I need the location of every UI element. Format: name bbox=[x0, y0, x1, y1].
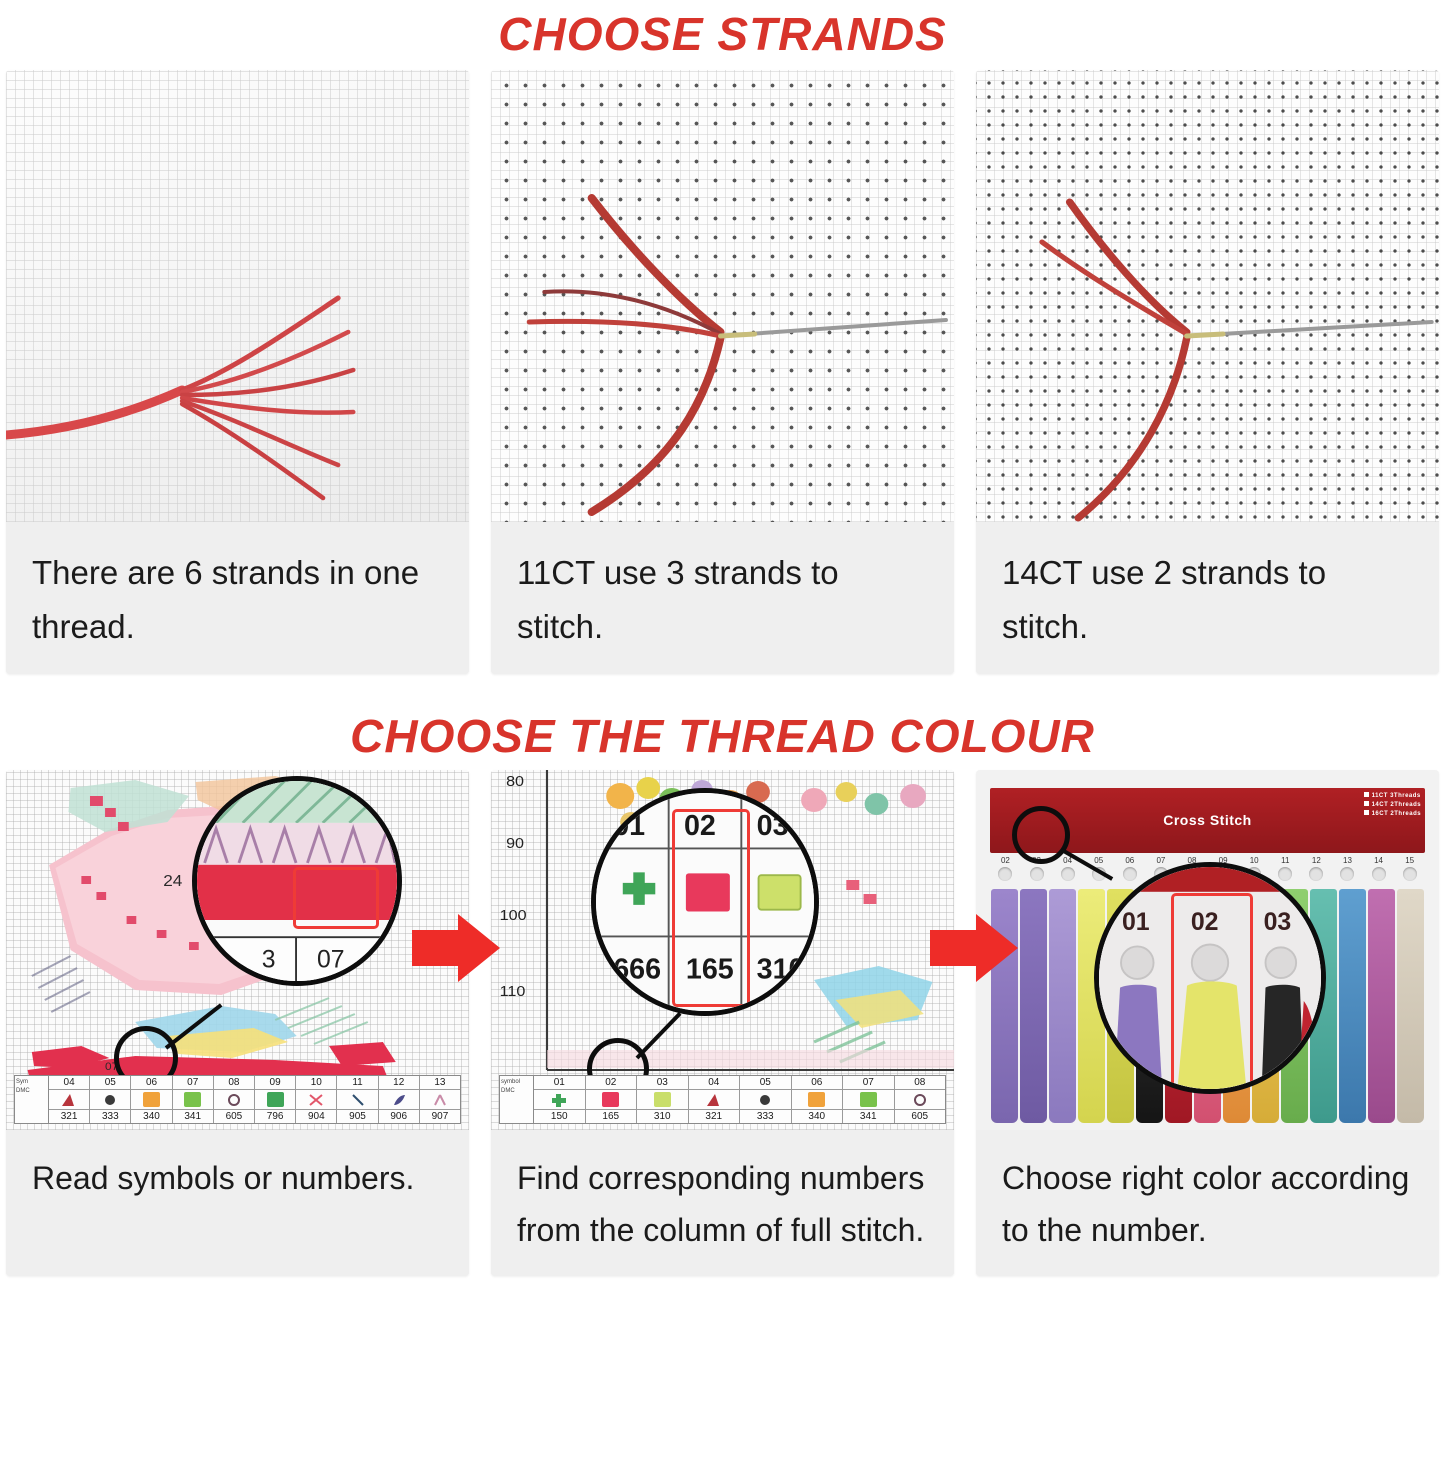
chart-cell-number: 24 bbox=[163, 872, 182, 890]
section-title-choose-thread-colour: CHOOSE THE THREAD COLOUR bbox=[0, 700, 1445, 764]
row-label: 80 bbox=[506, 773, 524, 789]
magnified-code: 666 bbox=[613, 953, 661, 985]
photo-thread-card: Cross Stitch 11CT 3Threads 14CT 2Threads… bbox=[976, 770, 1439, 1130]
magnified-symbol-green-plus bbox=[623, 872, 656, 905]
legend-column: 03310 bbox=[637, 1076, 689, 1123]
three-strands-needle-illustration bbox=[491, 70, 954, 522]
legend-code: 605 bbox=[214, 1110, 254, 1123]
card-choose-color: Cross Stitch 11CT 3Threads 14CT 2Threads… bbox=[976, 770, 1439, 1276]
legend-symbol bbox=[337, 1090, 377, 1110]
magnified-thread-number: 01 bbox=[1122, 908, 1150, 936]
caption-read-symbols: Read symbols or numbers. bbox=[6, 1130, 469, 1276]
legend-number: 10 bbox=[296, 1076, 336, 1090]
thread-skein bbox=[1368, 889, 1395, 1123]
highlight-box-magnified-threads bbox=[1171, 893, 1253, 1093]
row-label: 110 bbox=[500, 983, 526, 999]
legend-head-symbol: symbol bbox=[501, 1078, 532, 1087]
hole-icon bbox=[1403, 867, 1417, 881]
legend-symbol bbox=[895, 1090, 946, 1110]
card-11ct-three-strands: 11CT use 3 strands to stitch. bbox=[491, 70, 954, 674]
step-arrow-icon-2 bbox=[930, 912, 1018, 984]
legend-symbol bbox=[534, 1090, 585, 1110]
legend-code: 150 bbox=[534, 1110, 585, 1123]
legend-code: 340 bbox=[792, 1110, 843, 1123]
thread-card-options: 11CT 3Threads 14CT 2Threads 16CT 2Thread… bbox=[1364, 792, 1422, 819]
legend-column: 04321 bbox=[49, 1076, 90, 1123]
hole-icon bbox=[1372, 867, 1386, 881]
legend-code: 333 bbox=[90, 1110, 130, 1123]
checkbox-icon bbox=[1364, 792, 1369, 797]
legend-number: 02 bbox=[586, 1076, 637, 1090]
legend-column: 08605 bbox=[895, 1076, 946, 1123]
thread-skein bbox=[1020, 889, 1047, 1123]
card-read-symbols: 24 07 bbox=[6, 770, 469, 1276]
caption-14ct-two-strands: 14CT use 2 strands to stitch. bbox=[976, 522, 1439, 674]
legend-number: 03 bbox=[637, 1076, 688, 1090]
legend-symbol bbox=[90, 1090, 130, 1110]
legend-number: 06 bbox=[131, 1076, 171, 1090]
thread-card-banner-title: Cross Stitch bbox=[1163, 812, 1251, 828]
legend-code: 321 bbox=[689, 1110, 740, 1123]
section-title-choose-strands: CHOOSE STRANDS bbox=[0, 0, 1445, 62]
card-14ct-two-strands: 14CT use 2 strands to stitch. bbox=[976, 70, 1439, 674]
legend-number: 12 bbox=[379, 1076, 419, 1090]
legend-symbol bbox=[296, 1090, 336, 1110]
legend-number: 09 bbox=[255, 1076, 295, 1090]
legend-symbol bbox=[637, 1090, 688, 1110]
magnified-code: 310 bbox=[757, 953, 805, 985]
option-item: 16CT 2Threads bbox=[1364, 810, 1422, 819]
highlight-box-magnified bbox=[293, 867, 379, 929]
magnified-column-number: 03 bbox=[757, 810, 789, 842]
row-label: 90 bbox=[506, 835, 524, 851]
legend-symbol bbox=[689, 1090, 740, 1110]
caption-find-numbers: Find corresponding numbers from the colu… bbox=[491, 1130, 954, 1276]
legend-symbol bbox=[131, 1090, 171, 1110]
chart-background: 24 07 bbox=[6, 770, 469, 1130]
legend-column: 11905 bbox=[337, 1076, 378, 1123]
card-six-strands: There are 6 strands in one thread. bbox=[6, 70, 469, 674]
legend-symbol bbox=[214, 1090, 254, 1110]
thread-card-background: Cross Stitch 11CT 3Threads 14CT 2Threads… bbox=[976, 770, 1439, 1130]
chart-background-middle: 80 90 100 110 bbox=[491, 770, 954, 1130]
legend-code: 904 bbox=[296, 1110, 336, 1123]
hole-icon bbox=[1030, 867, 1044, 881]
legend-number: 05 bbox=[90, 1076, 130, 1090]
legend-column: 12906 bbox=[379, 1076, 420, 1123]
magnifier-target-circle-threads bbox=[1012, 806, 1070, 864]
legend-code: 340 bbox=[131, 1110, 171, 1123]
legend-number: 04 bbox=[49, 1076, 89, 1090]
photo-pattern-chart: 24 07 bbox=[6, 770, 469, 1130]
legend-number: 08 bbox=[895, 1076, 946, 1090]
legend-column: 01150 bbox=[534, 1076, 586, 1123]
legend-symbol bbox=[792, 1090, 843, 1110]
legend-column: 05333 bbox=[740, 1076, 792, 1123]
magnified-number-right: 07 bbox=[317, 947, 345, 974]
hole-icon bbox=[1340, 867, 1354, 881]
legend-column: 07341 bbox=[843, 1076, 895, 1123]
row-label: 100 bbox=[500, 907, 527, 923]
legend-column: 04321 bbox=[689, 1076, 741, 1123]
option-item: 11CT 3Threads bbox=[1364, 792, 1422, 801]
legend-code: 907 bbox=[420, 1110, 460, 1123]
legend-symbol bbox=[49, 1090, 89, 1110]
legend-column: 10904 bbox=[296, 1076, 337, 1123]
legend-number: 13 bbox=[420, 1076, 460, 1090]
photo-pattern-legend: 80 90 100 110 bbox=[491, 770, 954, 1130]
legend-code: 341 bbox=[173, 1110, 213, 1123]
legend-column: 06340 bbox=[792, 1076, 844, 1123]
magnified-symbol-green-block bbox=[759, 875, 801, 909]
legend-number: 05 bbox=[740, 1076, 791, 1090]
legend-code: 906 bbox=[379, 1110, 419, 1123]
legend-symbol bbox=[255, 1090, 295, 1110]
hole-icon bbox=[998, 867, 1012, 881]
thread-hole: 14 bbox=[1363, 856, 1394, 892]
legend-table-symbols: SymDMC 04321 05333 06340 07341 08605 097… bbox=[14, 1075, 461, 1124]
legend-column: 06340 bbox=[131, 1076, 172, 1123]
hole-icon bbox=[1061, 867, 1075, 881]
card-find-numbers: 80 90 100 110 bbox=[491, 770, 954, 1276]
legend-code: 605 bbox=[895, 1110, 946, 1123]
legend-symbol bbox=[586, 1090, 637, 1110]
thread-hole: 02 bbox=[990, 856, 1021, 892]
legend-code: 310 bbox=[637, 1110, 688, 1123]
legend-column: 09796 bbox=[255, 1076, 296, 1123]
legend-symbol bbox=[173, 1090, 213, 1110]
caption-choose-color: Choose right color according to the numb… bbox=[976, 1130, 1439, 1276]
thread-hole: 15 bbox=[1394, 856, 1425, 892]
legend-table-dmc: symbol DMC 01150 02165 03310 04321 05333… bbox=[499, 1075, 946, 1124]
magnifier-bubble-symbols: 3 07 bbox=[192, 776, 402, 986]
legend-symbol bbox=[379, 1090, 419, 1110]
two-strands-needle-illustration bbox=[976, 70, 1439, 522]
colour-card-row: 24 07 bbox=[0, 770, 1445, 1276]
step-arrow-icon-1 bbox=[412, 912, 500, 984]
legend-row-header: SymDMC bbox=[15, 1076, 49, 1123]
thread-skein bbox=[1339, 889, 1366, 1123]
magnifier-bubble-threads: 01 02 03 bbox=[1094, 862, 1326, 1094]
checkbox-icon bbox=[1364, 801, 1369, 806]
legend-code: 905 bbox=[337, 1110, 377, 1123]
magnifier-bubble-legend: 01 02 03 666 165 310 bbox=[591, 788, 819, 1016]
legend-code: 341 bbox=[843, 1110, 894, 1123]
legend-column: 07341 bbox=[173, 1076, 214, 1123]
checkbox-icon bbox=[1364, 810, 1369, 815]
magnified-number-left: 3 bbox=[262, 947, 276, 974]
thread-skein bbox=[1397, 889, 1424, 1123]
legend-row-header-middle: symbol DMC bbox=[500, 1076, 534, 1123]
thread-hole: 13 bbox=[1332, 856, 1363, 892]
legend-column: 08605 bbox=[214, 1076, 255, 1123]
legend-columns: 04321 05333 06340 07341 08605 09796 1090… bbox=[49, 1076, 460, 1123]
legend-number: 04 bbox=[689, 1076, 740, 1090]
legend-column: 02165 bbox=[586, 1076, 638, 1123]
legend-number: 08 bbox=[214, 1076, 254, 1090]
strands-card-row: There are 6 strands in one thread. bbox=[0, 70, 1445, 674]
legend-number: 07 bbox=[843, 1076, 894, 1090]
legend-column: 05333 bbox=[90, 1076, 131, 1123]
thread-skein bbox=[1049, 889, 1076, 1123]
magnified-thread-number: 03 bbox=[1264, 908, 1292, 936]
legend-symbol bbox=[420, 1090, 460, 1110]
legend-number: 06 bbox=[792, 1076, 843, 1090]
legend-symbol bbox=[843, 1090, 894, 1110]
legend-number: 01 bbox=[534, 1076, 585, 1090]
legend-code: 333 bbox=[740, 1110, 791, 1123]
option-item: 14CT 2Threads bbox=[1364, 801, 1422, 810]
highlight-box-magnified-middle bbox=[672, 809, 750, 1007]
legend-column: 13907 bbox=[420, 1076, 460, 1123]
legend-code: 165 bbox=[586, 1110, 637, 1123]
magnified-column-number: 01 bbox=[613, 810, 645, 842]
legend-number: 11 bbox=[337, 1076, 377, 1090]
legend-symbol bbox=[740, 1090, 791, 1110]
legend-number: 07 bbox=[173, 1076, 213, 1090]
photo-11ct-aida bbox=[491, 70, 954, 522]
photo-six-strands bbox=[6, 70, 469, 522]
caption-11ct-three-strands: 11CT use 3 strands to stitch. bbox=[491, 522, 954, 674]
photo-14ct-aida bbox=[976, 70, 1439, 522]
infographic-page: CHOOSE STRANDS There are bbox=[0, 0, 1445, 1478]
legend-code: 796 bbox=[255, 1110, 295, 1123]
legend-columns-middle: 01150 02165 03310 04321 05333 06340 0734… bbox=[534, 1076, 945, 1123]
legend-head-dmc: DMC bbox=[501, 1087, 532, 1096]
caption-six-strands: There are 6 strands in one thread. bbox=[6, 522, 469, 674]
legend-code: 321 bbox=[49, 1110, 89, 1123]
thread-strands-illustration bbox=[6, 70, 469, 522]
